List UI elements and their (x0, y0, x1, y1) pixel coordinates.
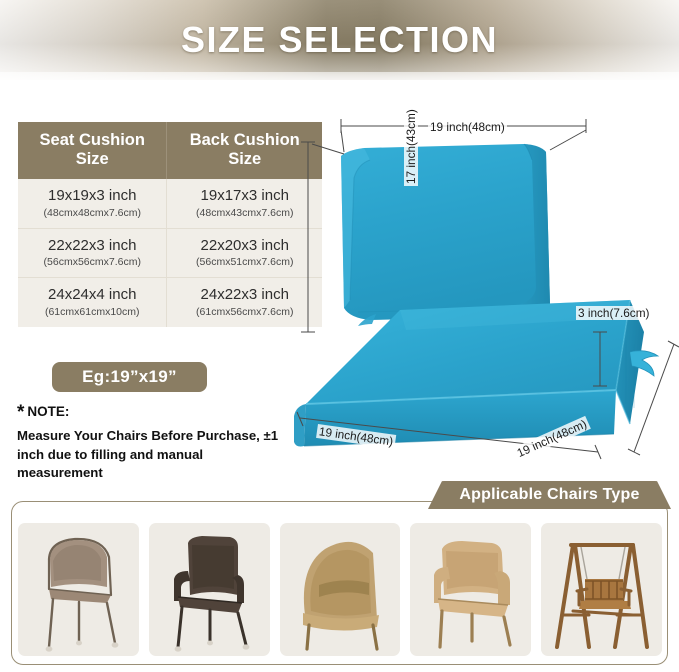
seat-size-inch: 22x22x3 inch (22, 237, 162, 256)
cell-seat-size: 22x22x3 inch (56cmx56cmx7.6cm) (18, 228, 167, 278)
back-cushion-shape (341, 144, 550, 320)
chair-card-wooden-porch-swing-bench[interactable] (541, 523, 662, 656)
banner-fade (0, 72, 679, 88)
example-size-badge: Eg:19”x19” (52, 362, 207, 392)
example-size-label: Eg:19”x19” (82, 367, 177, 387)
chair-card-tan-woven-wicker-armchair[interactable] (410, 523, 531, 656)
seat-size-cm: (61cmx61cmx10cm) (22, 306, 162, 318)
asterisk-icon: * (17, 402, 24, 423)
barrel-back-wicker-tub-chair-icon (281, 523, 399, 656)
cushion-illustration-svg (278, 104, 679, 476)
round-back-rattan-stacking-chair-icon (19, 523, 137, 656)
seat-size-cm: (56cmx56cmx7.6cm) (22, 256, 162, 268)
table-row: 19x19x3 inch (48cmx48cmx7.6cm) 19x17x3 i… (18, 179, 322, 228)
dimension-label-back-height: 17 inch(43cm) (404, 107, 418, 186)
cell-seat-size: 24x24x4 inch (61cmx61cmx10cm) (18, 278, 167, 327)
table-header-row: Seat Cushion Size Back Cushion Size (18, 122, 322, 179)
chair-card-round-back-rattan-stacking-chair[interactable] (18, 523, 139, 656)
seat-cushion-shape (294, 300, 644, 447)
tan-woven-wicker-armchair-icon (412, 523, 530, 656)
table-row: 24x24x4 inch (61cmx61cmx10cm) 24x22x3 in… (18, 278, 322, 327)
chair-card-high-back-dark-wicker-armchair[interactable] (149, 523, 270, 656)
applicable-chairs-tab-label: Applicable Chairs Type (459, 486, 639, 505)
chair-thumbnail-row (18, 523, 662, 656)
high-back-dark-wicker-armchair-icon (150, 523, 268, 656)
cushion-diagram (278, 104, 679, 476)
chair-card-barrel-back-wicker-tub-chair[interactable] (280, 523, 401, 656)
seat-size-inch: 24x24x4 inch (22, 286, 162, 305)
page-banner: SIZE SELECTION (0, 0, 679, 80)
seat-size-inch: 19x19x3 inch (22, 187, 162, 206)
note-body: Measure Your Chairs Before Purchase, ±1 … (17, 427, 289, 483)
seat-size-cm: (48cmx48cmx7.6cm) (22, 207, 162, 219)
note-heading: *NOTE: (17, 402, 289, 424)
cell-seat-size: 19x19x3 inch (48cmx48cmx7.6cm) (18, 179, 167, 228)
size-table: Seat Cushion Size Back Cushion Size 19x1… (18, 122, 322, 327)
applicable-chairs-tab: Applicable Chairs Type (428, 481, 671, 509)
table-row: 22x22x3 inch (56cmx56cmx7.6cm) 22x20x3 i… (18, 228, 322, 278)
dimension-label-seat-thickness: 3 inch(7.6cm) (576, 306, 651, 320)
column-header-seat-cushion-size: Seat Cushion Size (18, 122, 167, 179)
note-heading-text: NOTE: (27, 404, 69, 419)
dimension-label-back-width: 19 inch(48cm) (428, 120, 507, 134)
note-block: *NOTE: Measure Your Chairs Before Purcha… (17, 402, 289, 483)
wooden-porch-swing-bench-icon (543, 523, 661, 656)
infographic-page: SIZE SELECTION Seat Cushion Size Back Cu… (0, 0, 679, 672)
page-title: SIZE SELECTION (181, 19, 498, 61)
